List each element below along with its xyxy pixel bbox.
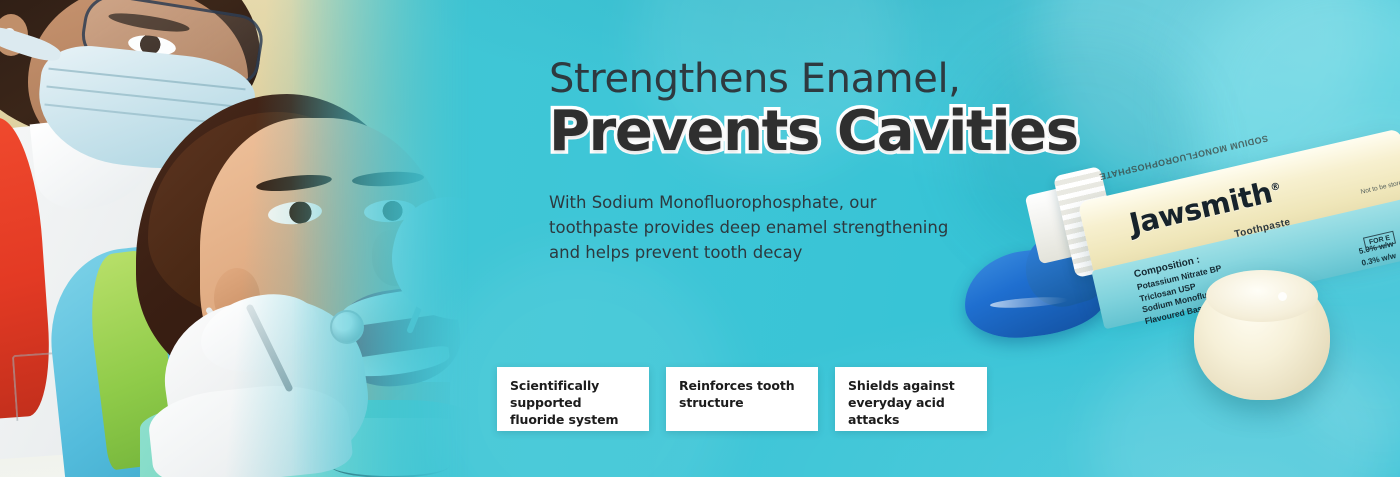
feature-card-label: Reinforces tooth structure: [679, 378, 805, 412]
headline-line-1: Strengthens Enamel,: [549, 58, 1109, 101]
feature-card-label: Shields against everyday acid attacks: [848, 378, 974, 428]
toothpaste-product-image: SODIUM MONOFLUOROPHOSPHATE Jawsmith® Too…: [960, 176, 1400, 426]
feature-card-reinforces-tooth-structure[interactable]: Reinforces tooth structure: [666, 367, 818, 431]
product-hero-banner: Strengthens Enamel, Prevents Cavities Wi…: [0, 0, 1400, 477]
feature-card-scientifically-supported-fluoride-system[interactable]: Scientifically supported fluoride system: [497, 367, 649, 431]
dentist-examining-patient-photo: [0, 0, 470, 477]
photo-teal-blend-overlay: [0, 0, 470, 477]
feature-card-list: Scientifically supported fluoride system…: [497, 367, 987, 431]
tube-cap-highlight: [1278, 292, 1287, 301]
hero-subcopy: With Sodium Monofluorophosphate, our too…: [549, 190, 949, 265]
feature-card-label: Scientifically supported fluoride system: [510, 378, 636, 428]
headline-line-2: Prevents Cavities: [549, 103, 1109, 162]
tube-cap-top-face: [1206, 270, 1318, 322]
